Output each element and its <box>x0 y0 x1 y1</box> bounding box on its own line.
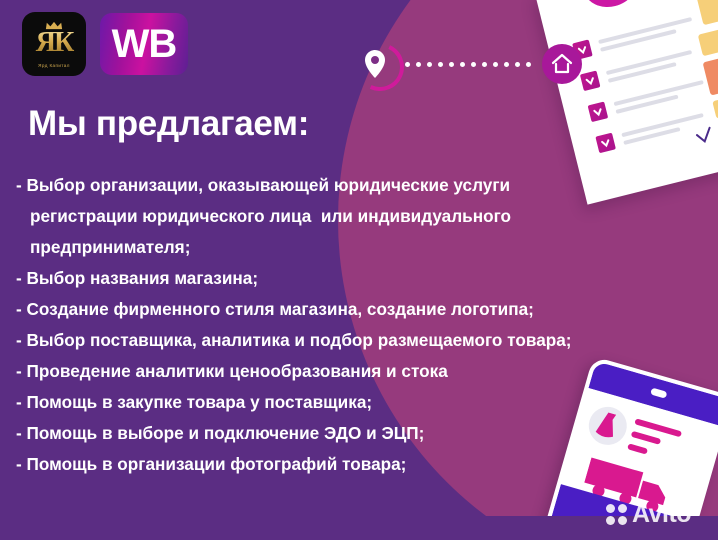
yard-capital-monogram: ЯК <box>22 27 86 59</box>
yard-capital-logo[interactable]: ЯК Ярд Капитал <box>22 12 86 76</box>
list-item: предпринимателя; <box>16 232 706 263</box>
checklist-text-lines <box>606 49 694 82</box>
promo-poster: ЯК Ярд Капитал WB Мы предлагаем: - <box>0 0 718 540</box>
checklist-text-lines <box>613 80 705 114</box>
list-item: - Помощь в выборе и подключение ЭДО и ЭЦ… <box>16 418 706 449</box>
brand-logo-row: ЯК Ярд Капитал WB <box>22 12 188 76</box>
sticky-note-yellow <box>698 22 718 56</box>
wildberries-logo-label: WB <box>112 24 177 64</box>
page-title: Мы предлагаем: <box>28 104 309 144</box>
checklist-text-lines <box>598 16 694 51</box>
avito-watermark: Avito <box>606 502 691 527</box>
list-item: - Создание фирменного стиля магазина, со… <box>16 294 706 325</box>
route-end <box>542 44 582 84</box>
list-item: - Помощь в организации фотографий товара… <box>16 449 706 480</box>
list-item: - Помощь в закупке товара у поставщика; <box>16 387 706 418</box>
checkmark-icon <box>595 133 616 154</box>
yard-capital-caption: Ярд Капитал <box>22 63 86 68</box>
checkmark-icon <box>580 70 601 91</box>
list-item: - Проведение аналитики ценообразования и… <box>16 356 706 387</box>
home-icon <box>550 52 574 76</box>
location-pin-icon <box>365 50 385 78</box>
wildberries-logo[interactable]: WB <box>100 13 188 75</box>
avito-watermark-text: Avito <box>632 502 691 527</box>
route-start <box>352 40 398 88</box>
list-item: - Выбор поставщика, аналитика и подбор р… <box>16 325 706 356</box>
avito-dots-icon <box>606 504 627 525</box>
route-graphic <box>352 40 582 88</box>
list-item: - Выбор организации, оказывающей юридиче… <box>16 170 706 201</box>
sticky-note-yellow <box>712 96 718 119</box>
list-item: - Выбор названия магазина; <box>16 263 706 294</box>
offer-list: - Выбор организации, оказывающей юридиче… <box>16 170 706 480</box>
document-circle-accent <box>578 0 641 13</box>
checkmark-icon <box>588 102 609 123</box>
route-dotted-path <box>405 62 531 67</box>
checkmark-icon <box>692 124 716 148</box>
sticky-note-yellow <box>696 0 718 25</box>
list-item: регистрации юридического лица или индиви… <box>16 201 706 232</box>
